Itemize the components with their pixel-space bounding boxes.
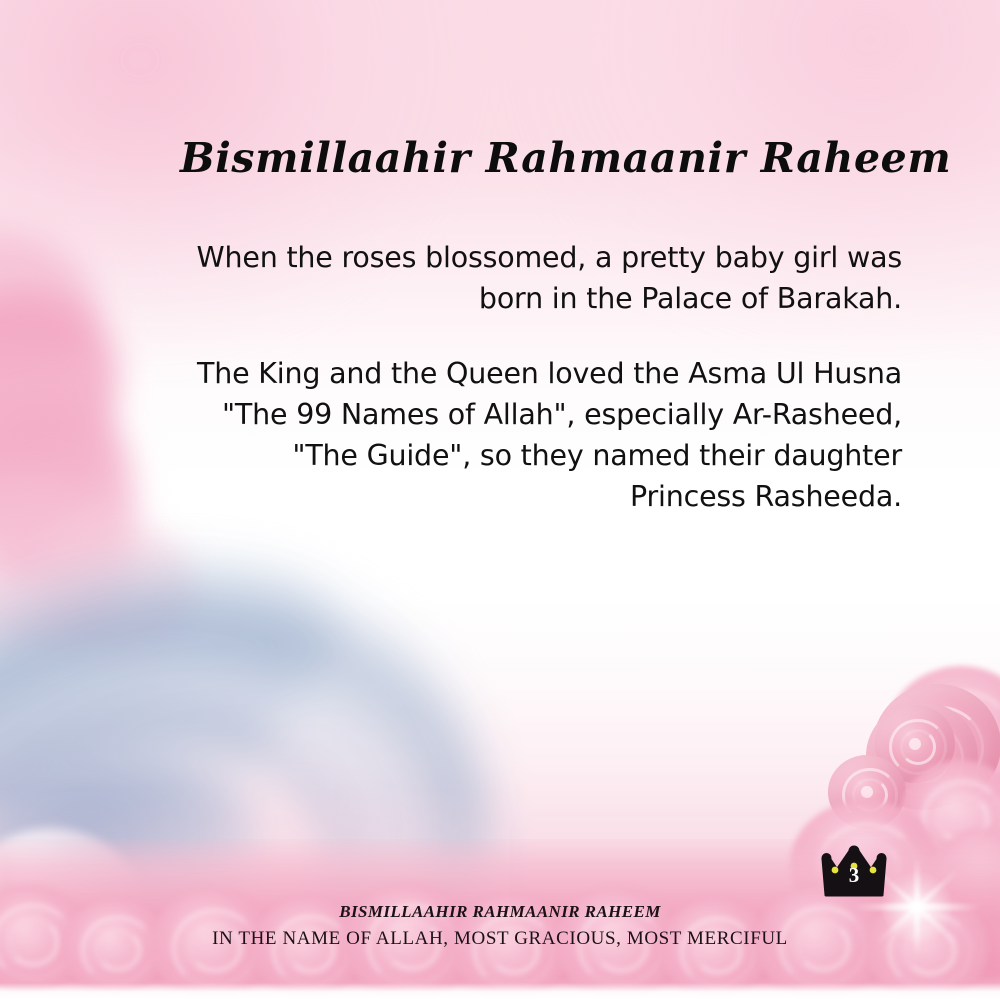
footer-transliteration: BISMILLAAHIR RAHMAANIR RAHEEM: [0, 902, 1000, 922]
crown-jewel: [870, 867, 877, 874]
crown-jewel: [832, 867, 839, 874]
story-paragraph-1: When the roses blossomed, a pretty baby …: [180, 237, 902, 319]
page-bottom-edge: [0, 983, 1000, 999]
crown-jewel: [851, 863, 858, 870]
page-footer: BISMILLAAHIR RAHMAANIR RAHEEM IN THE NAM…: [0, 902, 1000, 950]
crown-icon: 3: [820, 843, 888, 899]
story-paragraph-2: The King and the Queen loved the Asma Ul…: [180, 353, 902, 517]
footer-translation: IN THE NAME OF ALLAH, MOST GRACIOUS, MOS…: [0, 928, 1000, 950]
page-text-block: Bismillaahir Rahmaanir Raheem When the r…: [180, 136, 902, 517]
page-title: Bismillaahir Rahmaanir Raheem: [180, 136, 902, 181]
storybook-page: Bismillaahir Rahmaanir Raheem When the r…: [0, 0, 1000, 999]
rose-center: [861, 786, 873, 798]
crown-shape: [820, 843, 888, 899]
